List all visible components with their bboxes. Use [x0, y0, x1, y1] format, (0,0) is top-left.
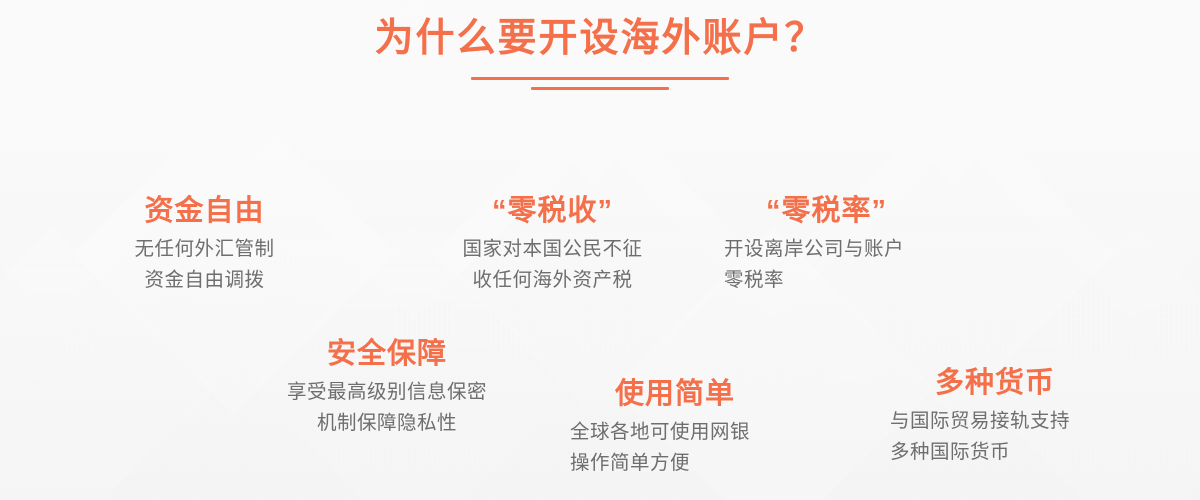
promo-banner: 为什么要开设海外账户？ 资金自由 无任何外汇管制 资金自由调拨 “零税收” 国家…: [0, 0, 1200, 500]
feature-body-line: 全球各地可使用网银: [570, 417, 780, 448]
feature-body-line: 资金自由调拨: [112, 265, 297, 296]
feature-heading: 使用简单: [570, 375, 780, 413]
page-title: 为什么要开设海外账户？: [0, 10, 1200, 68]
title-underline-long: [471, 77, 729, 80]
title-underline-short: [531, 87, 669, 90]
feature-body: 开设离岸公司与账户 零税率: [724, 234, 929, 296]
feature-body-line: 与国际贸易接轨支持: [890, 406, 1100, 437]
feature-heading: “零税率”: [724, 192, 929, 230]
feature-body-line: 多种国际货币: [890, 437, 1100, 468]
feature-body-line: 零税率: [724, 265, 929, 296]
feature-body-line: 机制保障隐私性: [272, 408, 502, 439]
feature-body-line: 无任何外汇管制: [112, 234, 297, 265]
feature-security-guarantee: 安全保障 享受最高级别信息保密 机制保障隐私性: [272, 335, 502, 439]
feature-heading: 资金自由: [112, 192, 297, 230]
feature-body: 全球各地可使用网银 操作简单方便: [570, 417, 780, 479]
feature-body-line: 操作简单方便: [570, 448, 780, 479]
title-block: 为什么要开设海外账户？: [0, 10, 1200, 90]
feature-heading: “零税收”: [450, 192, 655, 230]
feature-body-line: 收任何海外资产税: [450, 265, 655, 296]
feature-body-line: 开设离岸公司与账户: [724, 234, 929, 265]
feature-body: 国家对本国公民不征 收任何海外资产税: [450, 234, 655, 296]
feature-zero-tax-rate: “零税率” 开设离岸公司与账户 零税率: [724, 192, 929, 296]
feature-body: 无任何外汇管制 资金自由调拨: [112, 234, 297, 296]
feature-heading: 安全保障: [272, 335, 502, 373]
feature-multi-currency: 多种货币 与国际贸易接轨支持 多种国际货币: [890, 364, 1100, 468]
feature-body-line: 享受最高级别信息保密: [272, 377, 502, 408]
feature-body-line: 国家对本国公民不征: [450, 234, 655, 265]
feature-heading: 多种货币: [890, 364, 1100, 402]
feature-capital-freedom: 资金自由 无任何外汇管制 资金自由调拨: [112, 192, 297, 296]
feature-body: 享受最高级别信息保密 机制保障隐私性: [272, 377, 502, 439]
feature-zero-tax-collection: “零税收” 国家对本国公民不征 收任何海外资产税: [450, 192, 655, 296]
feature-body: 与国际贸易接轨支持 多种国际货币: [890, 406, 1100, 468]
feature-easy-to-use: 使用简单 全球各地可使用网银 操作简单方便: [570, 375, 780, 479]
